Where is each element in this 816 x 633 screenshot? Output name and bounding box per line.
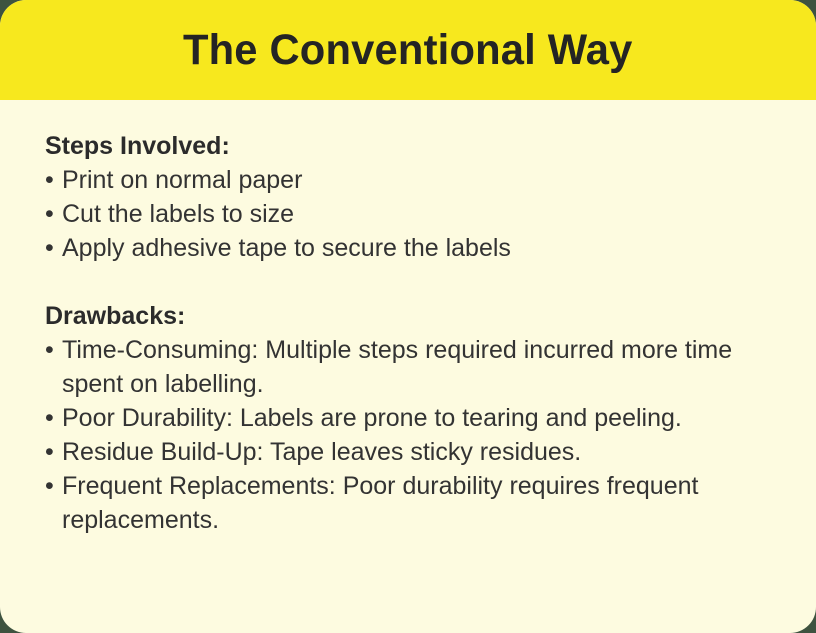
steps-involved-list: • Print on normal paper • Cut the labels… xyxy=(45,163,771,265)
section-drawbacks: Drawbacks: • Time-Consuming: Multiple st… xyxy=(45,299,771,537)
card-title: The Conventional Way xyxy=(183,29,633,72)
list-item-label: Frequent Replacements: Poor durability r… xyxy=(62,469,771,537)
list-item-label: Poor Durability: Labels are prone to tea… xyxy=(62,401,771,435)
list-item-label: Apply adhesive tape to secure the labels xyxy=(62,231,771,265)
bullet-icon: • xyxy=(45,197,54,231)
section-steps-involved: Steps Involved: • Print on normal paper … xyxy=(45,129,771,265)
card-body: Steps Involved: • Print on normal paper … xyxy=(0,100,816,537)
list-item: • Residue Build-Up: Tape leaves sticky r… xyxy=(45,435,771,469)
list-item-label: Cut the labels to size xyxy=(62,197,771,231)
list-item-label: Time-Consuming: Multiple steps required … xyxy=(62,333,771,401)
bullet-icon: • xyxy=(45,231,54,265)
section-heading-drawbacks: Drawbacks: xyxy=(45,299,771,333)
bullet-icon: • xyxy=(45,163,54,197)
card-header: The Conventional Way xyxy=(0,0,816,100)
bullet-icon: • xyxy=(45,435,54,469)
list-item: • Cut the labels to size xyxy=(45,197,771,231)
conventional-way-card: The Conventional Way Steps Involved: • P… xyxy=(0,0,816,633)
section-heading-steps-involved: Steps Involved: xyxy=(45,129,771,163)
list-item-label: Print on normal paper xyxy=(62,163,771,197)
bullet-icon: • xyxy=(45,401,54,435)
list-item-label: Residue Build-Up: Tape leaves sticky res… xyxy=(62,435,771,469)
list-item: • Time-Consuming: Multiple steps require… xyxy=(45,333,771,401)
drawbacks-list: • Time-Consuming: Multiple steps require… xyxy=(45,333,771,537)
bullet-icon: • xyxy=(45,469,54,503)
list-item: • Frequent Replacements: Poor durability… xyxy=(45,469,771,537)
bullet-icon: • xyxy=(45,333,54,367)
list-item: • Poor Durability: Labels are prone to t… xyxy=(45,401,771,435)
list-item: • Apply adhesive tape to secure the labe… xyxy=(45,231,771,265)
list-item: • Print on normal paper xyxy=(45,163,771,197)
